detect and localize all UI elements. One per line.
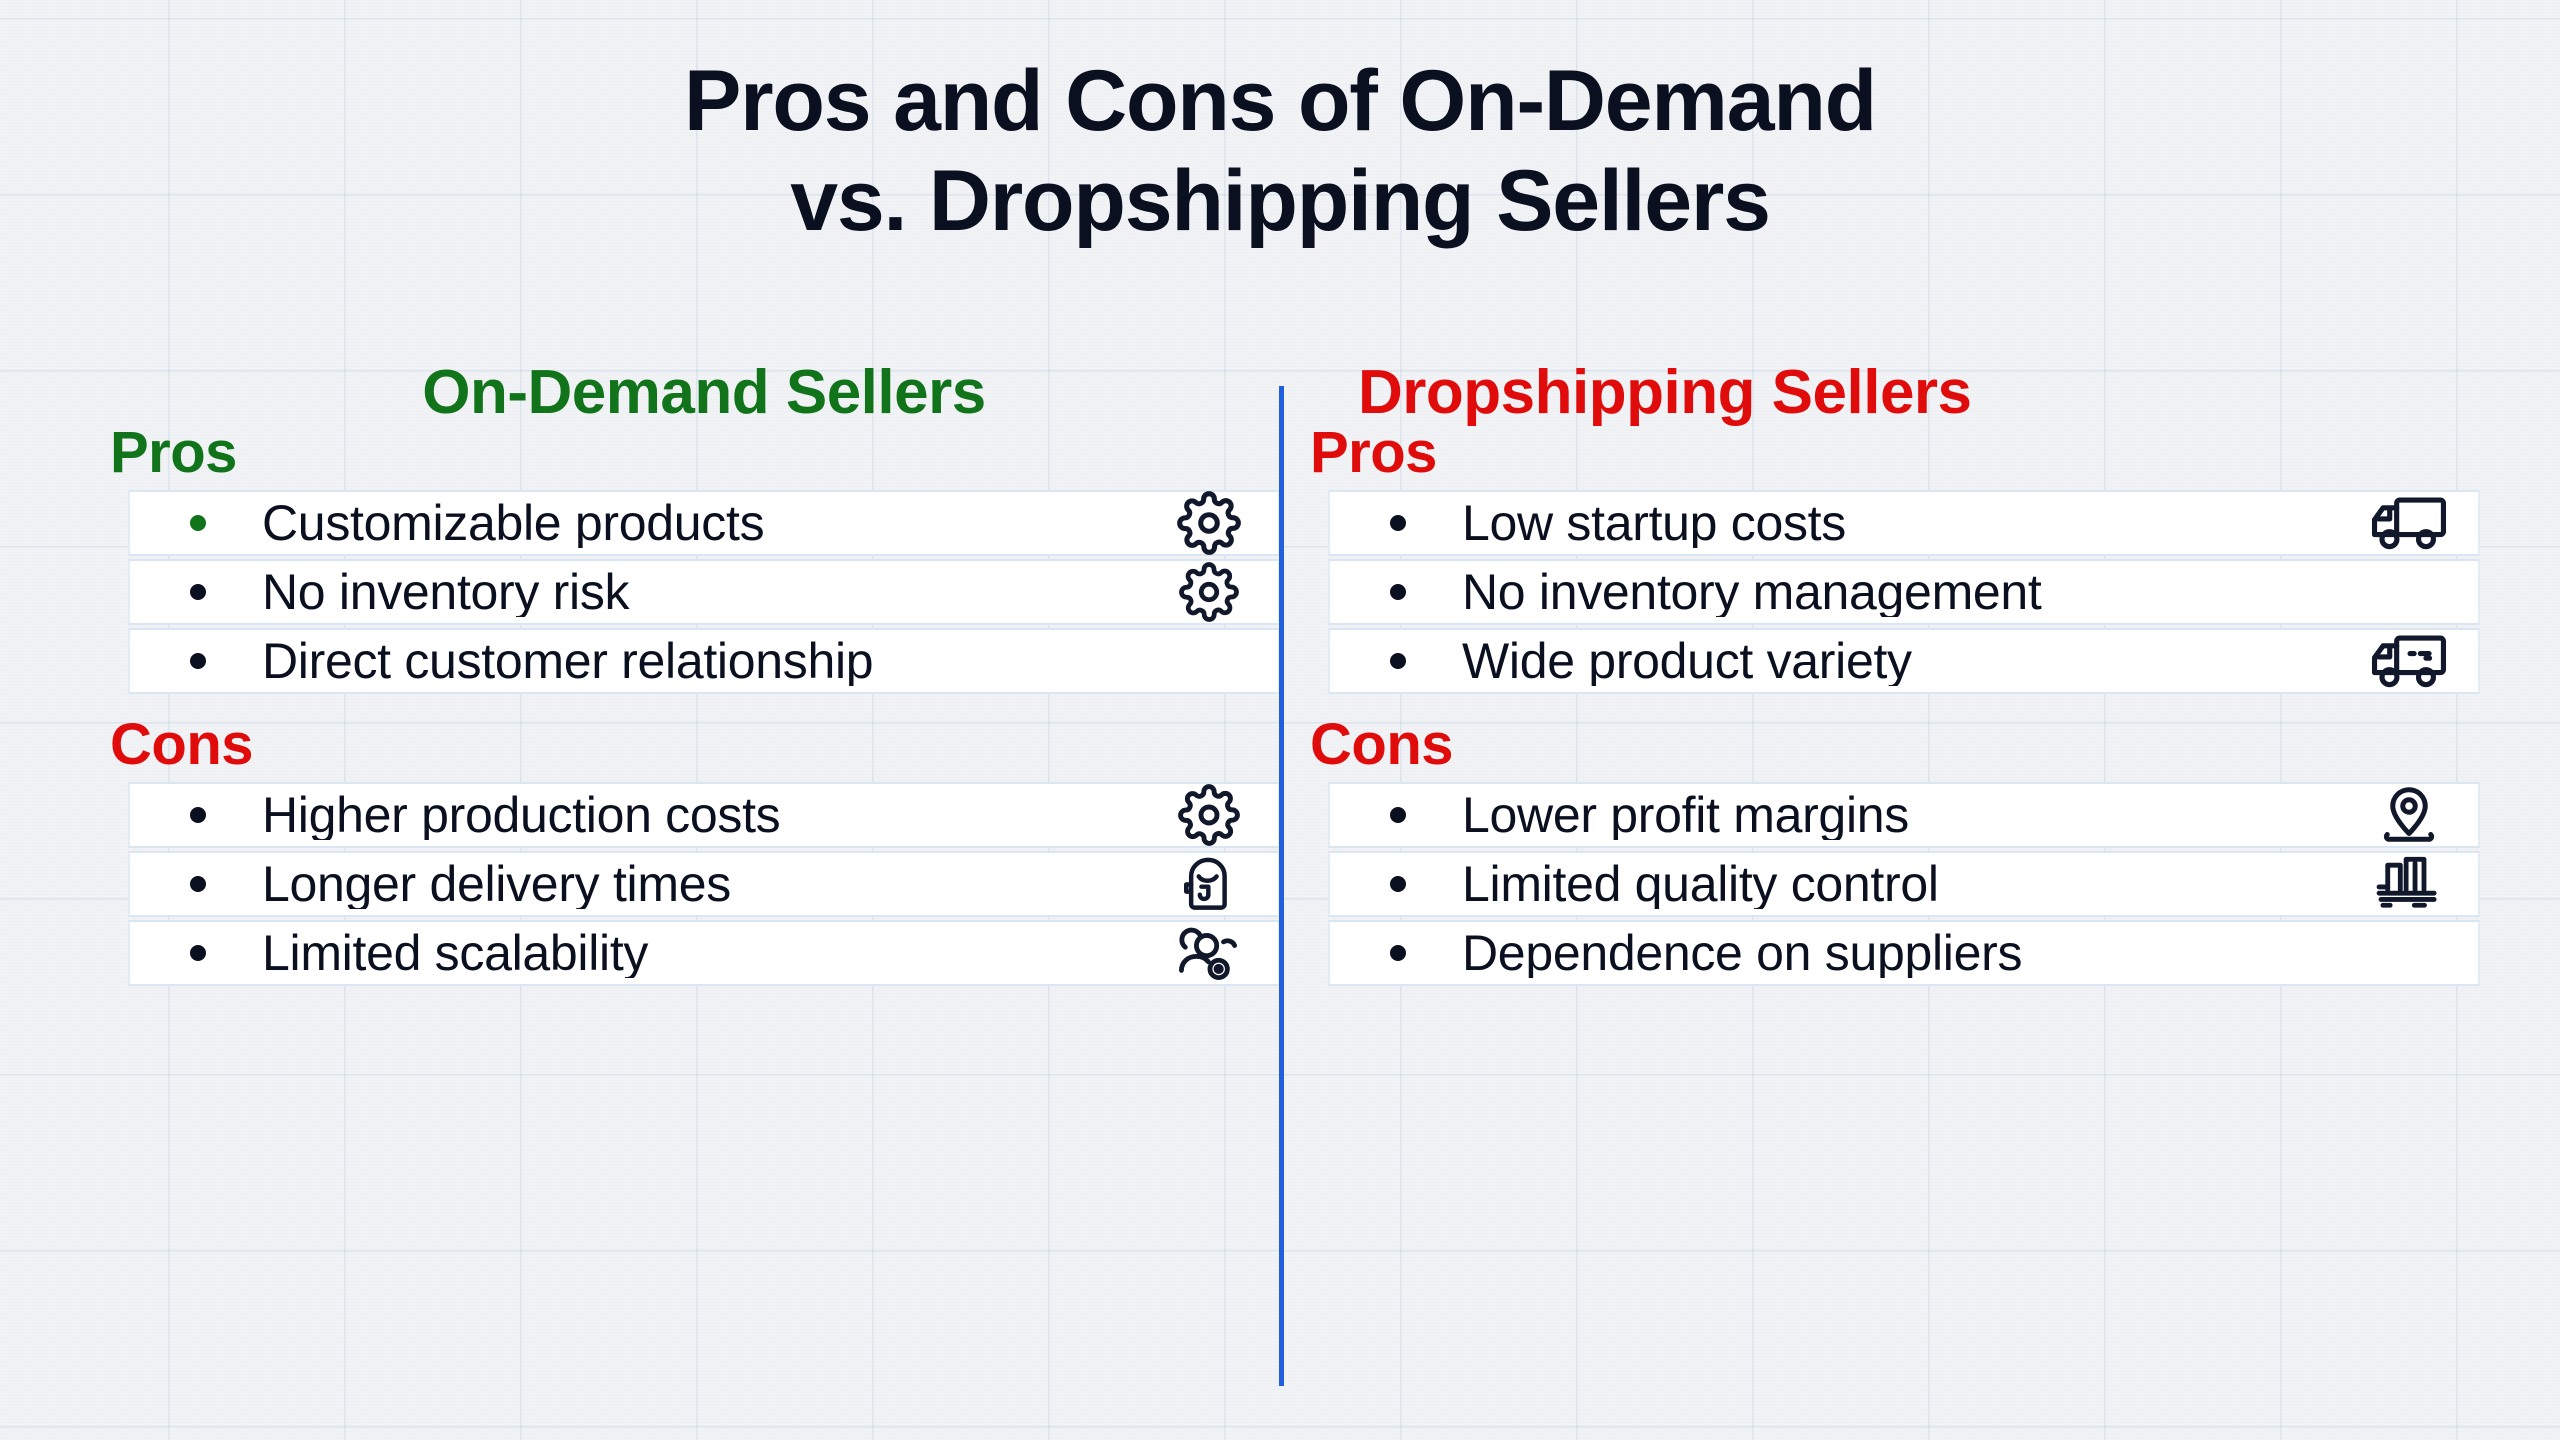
- bullet-icon: [190, 945, 206, 961]
- pros-list-dropshipping: Low startup costs No inventory managemen…: [1328, 490, 2480, 697]
- column-heading-on-demand: On-Demand Sellers: [128, 362, 1280, 424]
- bullet-icon: [1390, 584, 1406, 600]
- section-label-cons-left: Cons: [110, 716, 253, 774]
- truck-icon: [2354, 492, 2464, 554]
- factory-icon: [2354, 853, 2464, 915]
- column-divider: [1279, 386, 1284, 1386]
- list-item[interactable]: Limited quality control: [1328, 851, 2480, 917]
- list-item[interactable]: No inventory management: [1328, 559, 2480, 625]
- list-item-label: Higher production costs: [206, 790, 1154, 840]
- column-dropshipping: Dropshipping Sellers Pros Low startup co…: [1328, 372, 2480, 1372]
- column-on-demand: On-Demand Sellers Pros Customizable prod…: [128, 372, 1280, 1372]
- list-item-label: Limited scalability: [206, 928, 1154, 978]
- cons-list-on-demand: Higher production costs Longer delivery …: [128, 782, 1280, 989]
- section-label-pros-left: Pros: [110, 424, 237, 482]
- list-item[interactable]: Low startup costs: [1328, 490, 2480, 556]
- gear-icon: [1154, 784, 1264, 846]
- list-item-label: Low startup costs: [1406, 498, 2354, 548]
- list-item[interactable]: Direct customer relationship: [128, 628, 1280, 694]
- section-label-cons-right: Cons: [1310, 716, 1453, 774]
- bullet-icon: [190, 653, 206, 669]
- bullet-icon: [1390, 945, 1406, 961]
- cons-list-dropshipping: Lower profit margins Limited quality con…: [1328, 782, 2480, 989]
- location-pin-icon: [2354, 784, 2464, 846]
- bullet-icon: [190, 876, 206, 892]
- list-item[interactable]: Longer delivery times: [128, 851, 1280, 917]
- bullet-icon: [190, 584, 206, 600]
- list-item-label: Longer delivery times: [206, 859, 1154, 909]
- bullet-icon: [1390, 876, 1406, 892]
- list-item-label: No inventory management: [1406, 567, 2354, 617]
- section-label-pros-right: Pros: [1310, 424, 1437, 482]
- pros-list-on-demand: Customizable products No inventory risk: [128, 490, 1280, 697]
- list-item[interactable]: Dependence on suppliers: [1328, 920, 2480, 986]
- list-item-label: Customizable products: [206, 498, 1154, 548]
- list-item[interactable]: Higher production costs: [128, 782, 1280, 848]
- list-item[interactable]: Wide product variety: [1328, 628, 2480, 694]
- bullet-icon: [1390, 807, 1406, 823]
- page-title: Pros and Cons of On-Demand vs. Dropshipp…: [0, 52, 2560, 252]
- list-item-label: No inventory risk: [206, 567, 1154, 617]
- list-item-label: Limited quality control: [1406, 859, 2354, 909]
- gear-icon: [1154, 492, 1264, 554]
- list-item-label: Dependence on suppliers: [1406, 928, 2354, 978]
- list-item[interactable]: Customizable products: [128, 490, 1280, 556]
- gear-icon: [1154, 561, 1264, 623]
- list-item[interactable]: Lower profit margins: [1328, 782, 2480, 848]
- bullet-icon: [1390, 515, 1406, 531]
- list-item-label: Wide product variety: [1406, 636, 2354, 686]
- list-item-label: Direct customer relationship: [206, 636, 1154, 686]
- list-item-label: Lower profit margins: [1406, 790, 2354, 840]
- comparison-board: On-Demand Sellers Pros Customizable prod…: [0, 372, 2560, 1372]
- list-item[interactable]: No inventory risk: [128, 559, 1280, 625]
- users-icon: [1154, 922, 1264, 984]
- list-item[interactable]: Limited scalability: [128, 920, 1280, 986]
- bullet-icon: [190, 807, 206, 823]
- bullet-icon: [1390, 653, 1406, 669]
- truck-alt-icon: [2354, 630, 2464, 692]
- column-heading-dropshipping: Dropshipping Sellers: [1328, 362, 2480, 424]
- package-icon: [1154, 853, 1264, 915]
- bullet-icon: [190, 515, 206, 531]
